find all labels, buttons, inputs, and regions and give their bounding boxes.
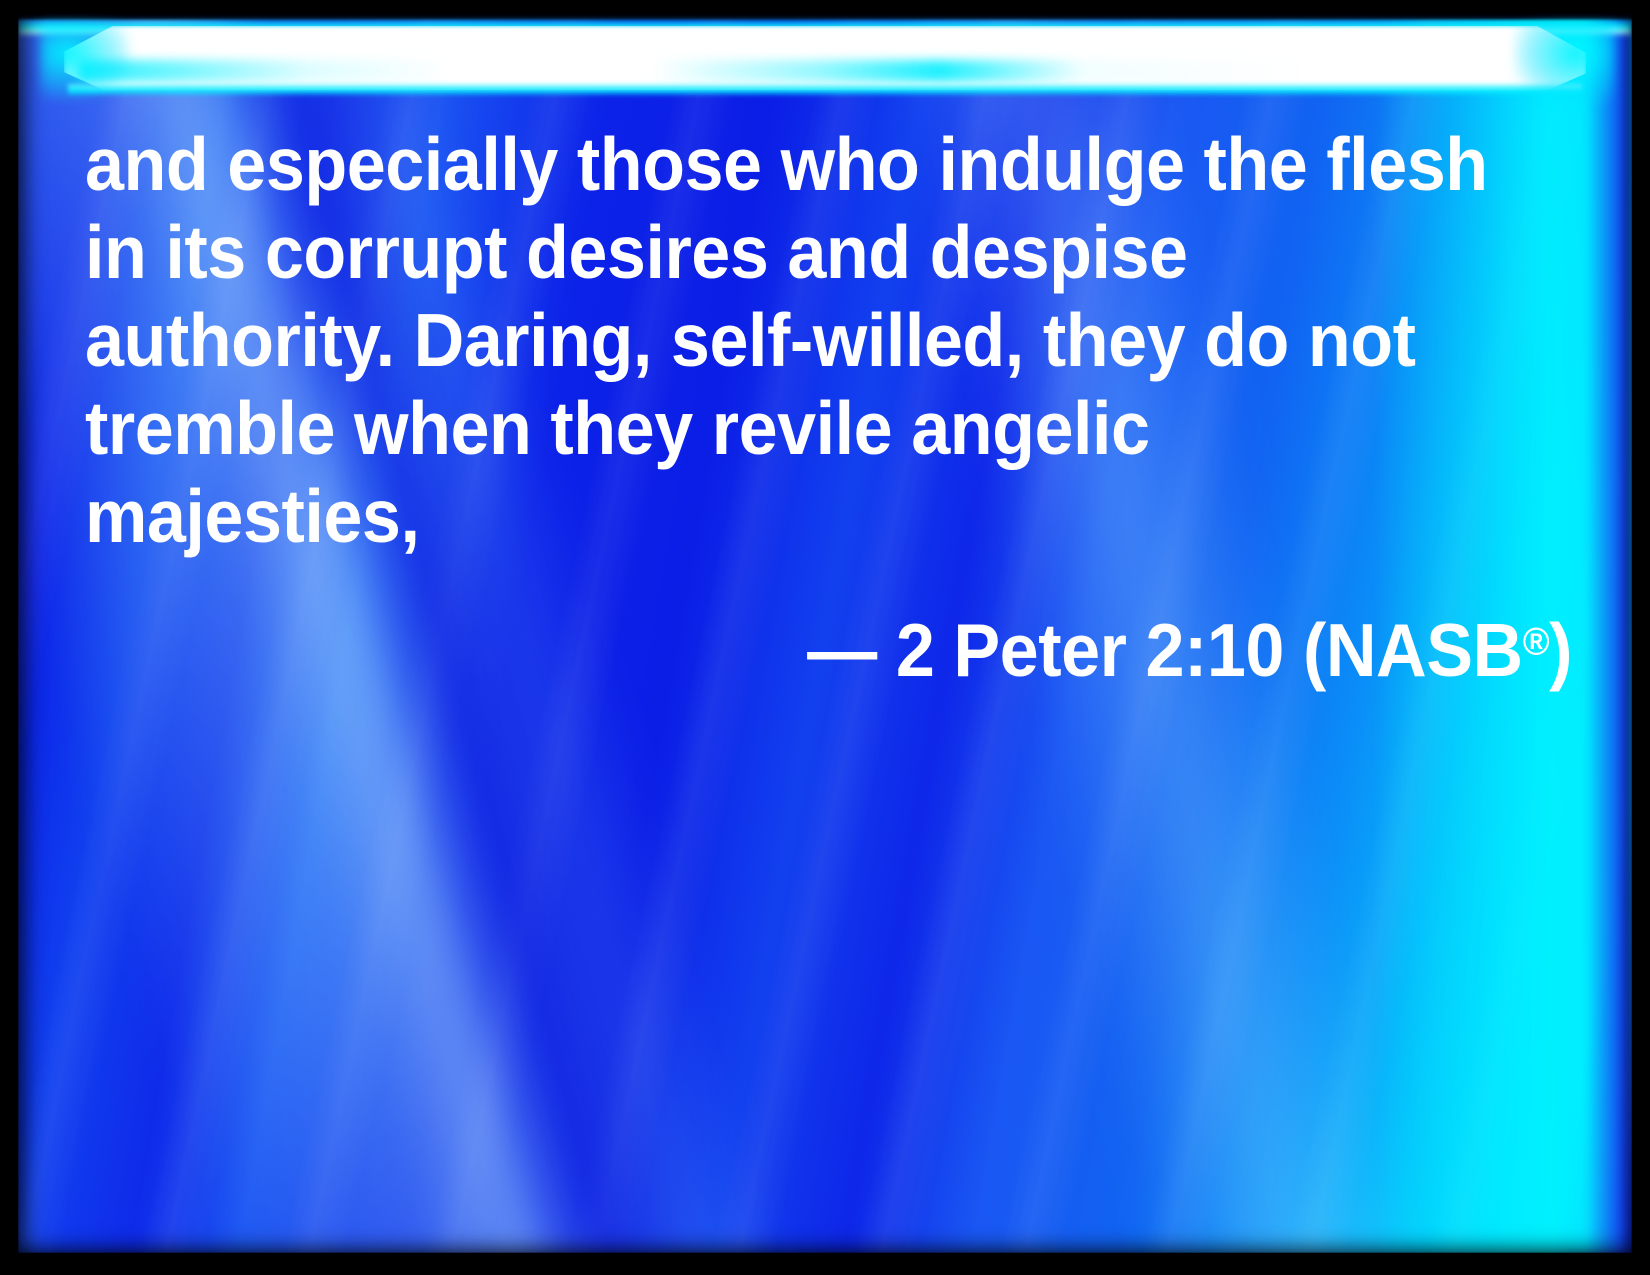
registered-trademark-icon: ® [1523,621,1549,664]
citation-spacer-2 [1284,608,1303,692]
verse-line-2: in its corrupt desires and despise [85,208,1475,296]
citation-reference: 2 Peter 2:10 [896,608,1284,692]
verse-line-3: authority. Daring, self-willed, they do … [85,296,1475,384]
verse-line-1: and especially those who indulge the fle… [85,120,1475,208]
verse-line-4: tremble when they revile angelic [85,384,1475,472]
scripture-slide: and especially those who indulge the fle… [0,0,1650,1275]
citation-translation-close: ) [1549,608,1572,692]
verse-line-5: majesties, [85,472,1475,560]
citation-translation-open: (NASB [1303,608,1523,692]
slide-panel: and especially those who indulge the fle… [18,12,1632,1253]
citation-em-dash: — [807,608,877,692]
verse-citation: — 2 Peter 2:10 (NASB®) [182,606,1572,694]
verse-text-block: and especially those who indulge the fle… [85,120,1572,694]
citation-spacer [877,608,896,692]
